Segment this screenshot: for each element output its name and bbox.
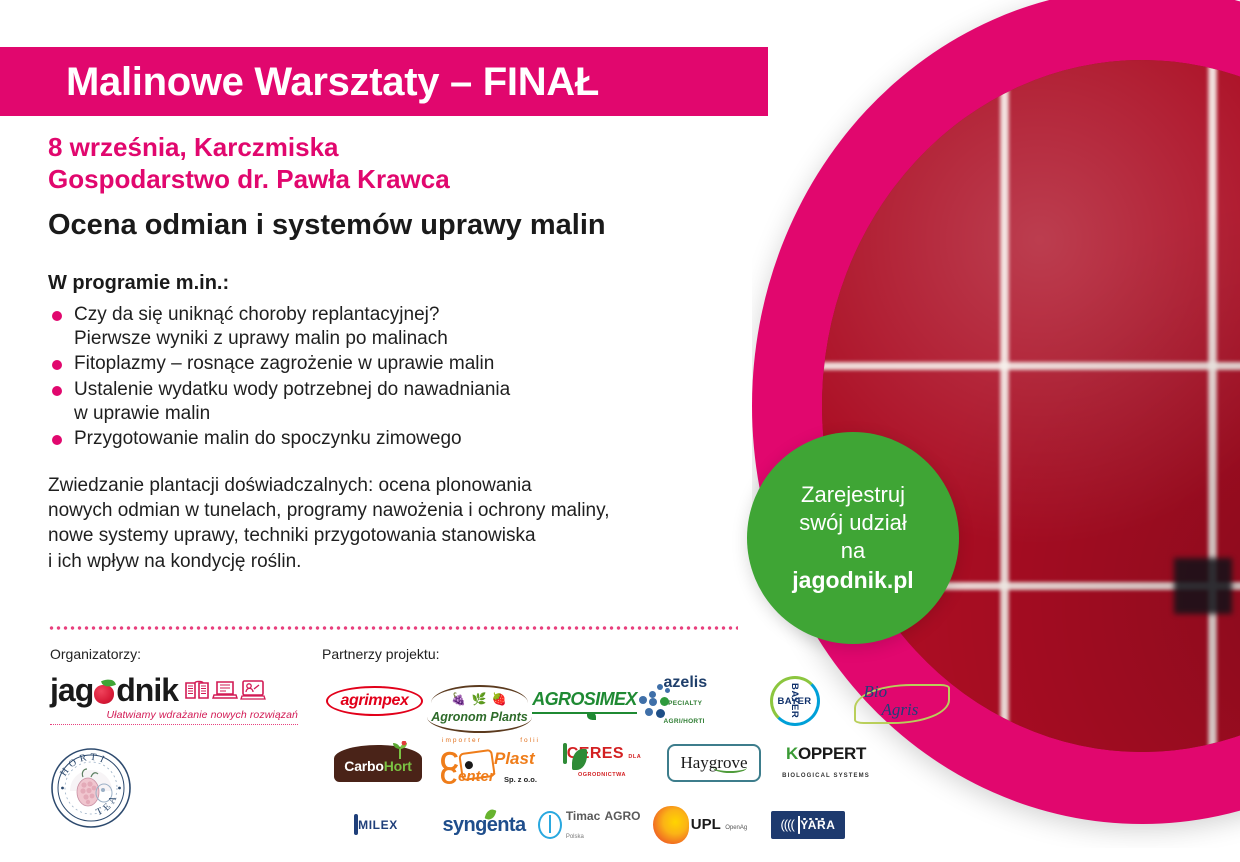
carbohort-label1: Carbo (344, 758, 383, 774)
partner-logo-syngenta: syngenta (430, 798, 538, 852)
cta-line3: na (841, 537, 865, 565)
punnet-divider (822, 360, 1240, 372)
partner-logo-bayer: BAYER BAYER (742, 674, 847, 728)
azelis-sub1: SPECIALTY (664, 700, 703, 707)
leaf-box-icon (563, 743, 567, 764)
koppert-mark: KOPPERT BIOLOGICAL SYSTEMS (770, 745, 882, 782)
jagodnik-icon-group (184, 679, 266, 701)
list-item: Czy da się uniknąć choroby replantacyjne… (48, 303, 748, 351)
jagodnik-word-before: jag (50, 674, 93, 706)
event-host: Gospodarstwo dr. Pawła Krawca (48, 164, 748, 194)
list-item-line1: Czy da się uniknąć choroby replantacyjne… (74, 304, 439, 325)
raspberry-fruit-shape (94, 685, 114, 704)
title-bar: Malinowe Warsztaty – FINAŁ (0, 47, 768, 116)
main-content: 8 września, Karczmiska Gospodarstwo dr. … (48, 132, 748, 574)
agronom-plants-mark: 🍇 🌿 🍓 Agronom Plants (427, 677, 532, 726)
plast-word1: Plast (494, 749, 535, 769)
program-label: W programie m.in.: (48, 272, 748, 295)
punnet-divider (1206, 60, 1219, 752)
partner-logo-agrimpex: agrimpex (322, 674, 427, 728)
yara-waves-icon: (((( (780, 817, 793, 832)
partner-logo-milex: MILEX (322, 798, 430, 852)
bio-agris-label1: Bio (864, 682, 888, 702)
partner-logo-agronom-plants: 🍇 🌿 🍓 Agronom Plants (427, 674, 532, 728)
register-cta-badge[interactable]: Zarejestruj swój udział na jagodnik.pl (747, 432, 959, 644)
timac-label: Timac (566, 809, 600, 823)
yara-mark: (((( YARA (771, 811, 844, 839)
list-item-line1: Ustalenie wydatku wody potrzebnej do naw… (74, 379, 510, 400)
carbohort-mark: CarboHort (334, 745, 421, 782)
plast-top1: importer (442, 737, 482, 744)
timac-sub: Polska (566, 834, 584, 840)
bullet-dot-icon (52, 386, 62, 396)
description-paragraph: Zwiedzanie plantacji doświadczalnych: oc… (48, 473, 748, 574)
milex-mark: MILEX (354, 816, 398, 834)
book-icon (184, 679, 210, 701)
yara-boat-icon (798, 816, 800, 834)
punnet-gap (1174, 558, 1232, 614)
partner-logo-carbohort: CarboHort (322, 736, 434, 790)
plast-word2: enter (458, 768, 495, 785)
upl-mark: UPL OpenAg (653, 806, 747, 844)
bayer-horizontal-label: BAYER (778, 696, 812, 707)
jagodnik-word-after: dnik (116, 674, 178, 706)
plast-legal-form: Sp. z o.o. (504, 775, 537, 784)
organizers-section: Organizatorzy: jag dnik (50, 646, 300, 829)
partner-logo-timac-agro: Timac AGRO Polska (538, 798, 646, 852)
partner-logo-agrosimex: AGROSIMEX (532, 674, 637, 728)
koppert-label2: OPPERT (798, 744, 866, 763)
cta-website[interactable]: jagodnik.pl (792, 566, 913, 595)
timac-label2: AGRO (604, 809, 640, 823)
list-item-line2: Pierwsze wyniki z uprawy malin po malina… (74, 327, 748, 351)
azelis-sub2: AGRI/HORTI (664, 718, 705, 725)
dotted-divider (48, 626, 738, 630)
arc-shape (431, 685, 528, 703)
partner-logo-bio-agris: Bio Agris (847, 674, 952, 728)
bullet-dot-icon (52, 360, 62, 370)
partner-row-1: agrimpex 🍇 🌿 🍓 Agronom Plants AGROSIMEX (322, 674, 952, 728)
list-item: Ustalenie wydatku wody potrzebnej do naw… (48, 378, 748, 426)
partner-row-2: CarboHort importer folii C Plast C enter… (322, 736, 952, 790)
azelis-dots-icon (637, 684, 660, 718)
koppert-label1: K (786, 744, 798, 763)
bio-agris-label2: Agris (882, 700, 919, 720)
bullet-dot-icon (52, 311, 62, 321)
poster-canvas: Malinowe Warsztaty – FINAŁ 8 września, K… (0, 0, 1240, 862)
organizers-label: Organizatorzy: (50, 646, 300, 662)
arc-shape (427, 717, 532, 733)
timac-agro-mark: Timac AGRO Polska (538, 807, 646, 843)
jagodnik-logo: jag dnik (50, 674, 300, 725)
event-date-place: 8 września, Karczmiska (48, 132, 748, 162)
timac-icon (538, 811, 562, 839)
horti-team-seal: HORTI TEAM (50, 747, 132, 829)
cta-line1: Zarejestruj (801, 481, 905, 509)
azelis-label: azelis (664, 674, 708, 691)
agrosimex-wordmark: AGROSIMEX (532, 689, 637, 714)
carbohort-wordmark: CarboHort (344, 758, 411, 774)
presentation-screen-icon (240, 679, 266, 701)
plast-c2: C (440, 765, 457, 789)
event-heading: Ocena odmian i systemów uprawy malin (48, 210, 748, 242)
partner-logo-azelis: azelis SPECIALTY AGRI/HORTI (637, 674, 742, 728)
plant-icon (390, 741, 410, 759)
partners-section: Partnerzy projektu: agrimpex 🍇 🌿 🍓 Agron… (322, 646, 952, 852)
raspberry-icon (94, 682, 115, 703)
jagodnik-tagline: Ułatwiamy wdrażanie nowych rozwiązań (50, 709, 298, 725)
bayer-cross-mark: BAYER BAYER (770, 676, 820, 726)
plast-center-mark: importer folii C Plast C enter Sp. z o.o… (438, 737, 542, 789)
koppert-sub: BIOLOGICAL SYSTEMS (782, 773, 870, 779)
paragraph-line: Zwiedzanie plantacji doświadczalnych: oc… (48, 473, 748, 498)
partner-row-3: MILEX syngenta Timac AGRO Polska (322, 798, 952, 852)
haygrove-wordmark: Haygrove (667, 744, 760, 782)
program-list: Czy da się uniknąć choroby replantacyjne… (48, 303, 748, 451)
syngenta-wordmark: syngenta (442, 814, 525, 837)
partner-logo-haygrove: Haygrove (658, 736, 770, 790)
paragraph-line: nowych odmian w tunelach, programy nawoż… (48, 498, 748, 523)
upl-orb-icon (653, 806, 689, 844)
paragraph-line: i ich wpływ na kondycję roślin. (48, 549, 748, 574)
agrimpex-wordmark: agrimpex (326, 686, 424, 716)
upl-label: UPL (691, 816, 721, 833)
list-item-line1: Fitoplazmy – rosnące zagrożenie w uprawi… (74, 353, 494, 374)
carbohort-label2: Hort (384, 758, 412, 774)
partner-logo-upl: UPL OpenAg (646, 798, 754, 852)
paragraph-line: nowe systemy uprawy, techniki przygotowa… (48, 523, 748, 548)
partner-logo-plast-center: importer folii C Plast C enter Sp. z o.o… (434, 736, 546, 790)
cta-line2: swój udział (799, 509, 907, 537)
partner-logo-yara: (((( YARA (754, 798, 862, 852)
partner-logo-koppert: KOPPERT BIOLOGICAL SYSTEMS (770, 736, 882, 790)
list-item: Przygotowanie malin do spoczynku zimoweg… (48, 427, 748, 451)
list-item-line1: Przygotowanie malin do spoczynku zimoweg… (74, 428, 462, 449)
laptop-icon (212, 679, 238, 701)
plast-top2: folii (520, 737, 540, 744)
jagodnik-wordmark: jag dnik (50, 674, 178, 706)
bio-agris-mark: Bio Agris (852, 678, 948, 724)
list-item: Fitoplazmy – rosnące zagrożenie w uprawi… (48, 352, 748, 376)
upl-sub: OpenAg (725, 825, 747, 831)
partner-logo-ceres: CERES DLA OGRODNICTWA (546, 736, 658, 790)
yara-label: YARA (800, 818, 835, 832)
list-item-line2: w uprawie malin (74, 402, 748, 426)
ceres-mark: CERES DLA OGRODNICTWA (546, 745, 658, 781)
page-title: Malinowe Warsztaty – FINAŁ (0, 62, 599, 102)
bullet-dot-icon (52, 435, 62, 445)
partners-label: Partnerzy projektu: (322, 646, 952, 662)
punnet-divider (998, 60, 1011, 752)
milex-label: MILEX (358, 818, 398, 832)
